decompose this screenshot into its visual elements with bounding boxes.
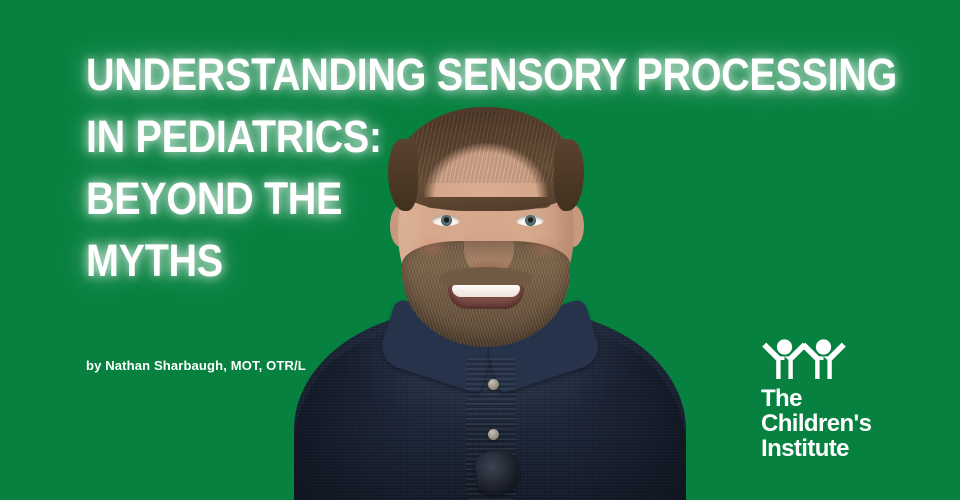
sweater-button-bottom xyxy=(488,429,499,440)
sweater-button-top xyxy=(488,379,499,390)
title-line-2: IN PEDIATRICS: xyxy=(86,106,790,168)
logo-line-2: Children's xyxy=(761,411,881,436)
page-title: UNDERSTANDING SENSORY PROCESSING IN PEDI… xyxy=(86,44,886,292)
byline: by Nathan Sharbaugh, MOT, OTR/L xyxy=(86,358,306,373)
video-thumbnail-slide: UNDERSTANDING SENSORY PROCESSING IN PEDI… xyxy=(0,0,960,500)
logo-line-3: Institute xyxy=(761,436,881,461)
logo-wordmark: The Children's Institute xyxy=(761,386,881,461)
logo-line-1: The xyxy=(761,386,881,411)
brand-logo: The Children's Institute xyxy=(761,336,881,461)
title-line-4: MYTHS xyxy=(86,230,790,292)
two-children-with-raised-arms-icon xyxy=(761,336,855,380)
title-line-3: BEYOND THE xyxy=(86,168,790,230)
title-line-1: UNDERSTANDING SENSORY PROCESSING xyxy=(86,44,790,106)
